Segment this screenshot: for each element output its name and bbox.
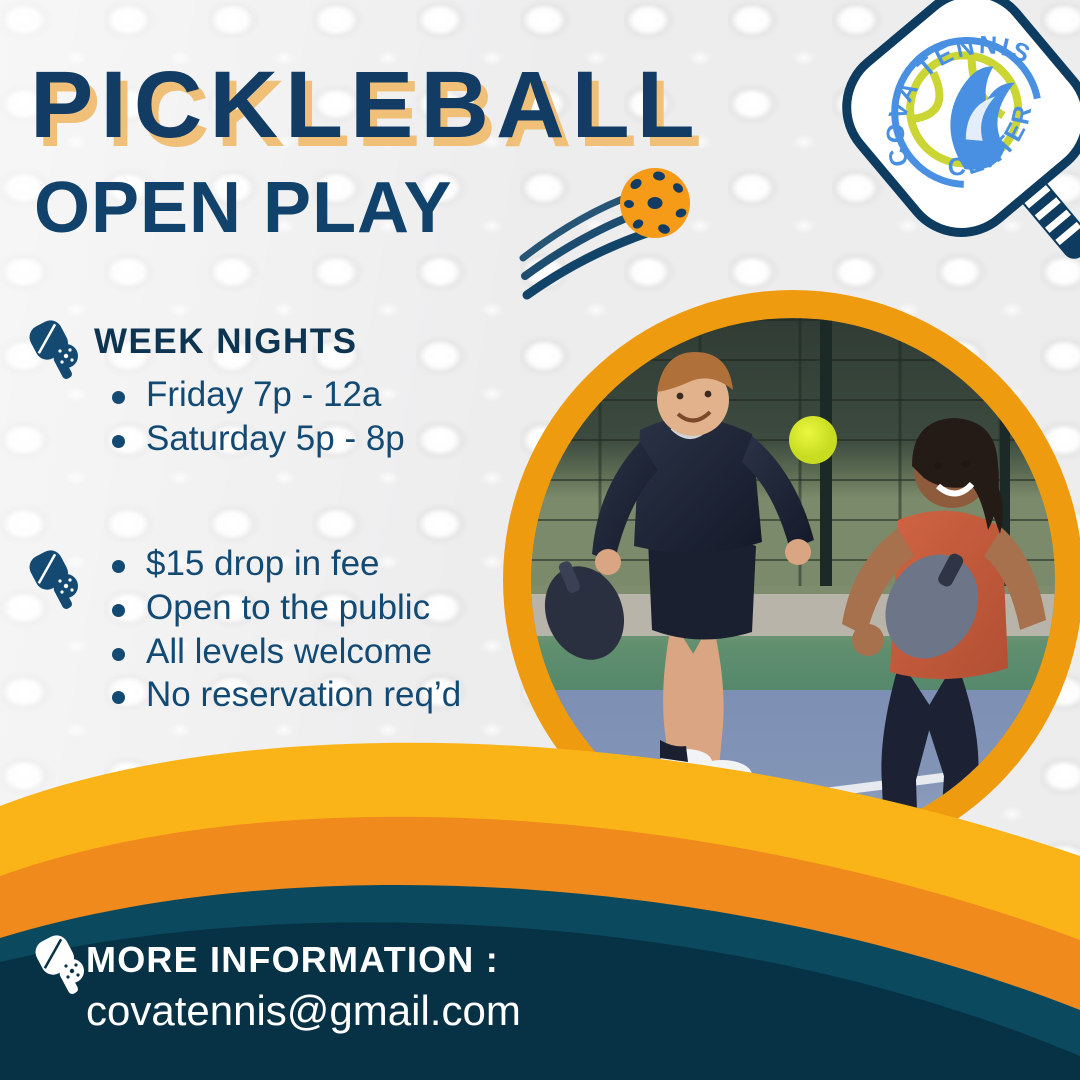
footer-heading: MORE INFORMATION : xyxy=(86,939,499,981)
list-item: Friday 7p - 12a xyxy=(112,373,405,417)
pickleball-paddle-icon xyxy=(22,548,84,618)
list-item: All levels welcome xyxy=(112,630,461,674)
headline-block: PICKLEBALL xyxy=(30,58,702,153)
schedule-title: WEEK NIGHTS xyxy=(94,312,405,359)
list-item: Saturday 5p - 8p xyxy=(112,417,405,461)
poster-canvas: COVA TENNIS CENTER PICKLEBALL OPEN PLAY xyxy=(0,0,1080,1080)
schedule-block: WEEK NIGHTS Friday 7p - 12a Saturday 5p … xyxy=(22,312,405,461)
tennis-ball-in-photo xyxy=(789,416,837,464)
list-item: $15 drop in fee xyxy=(112,542,461,586)
schedule-list: Friday 7p - 12a Saturday 5p - 8p xyxy=(112,373,405,461)
page-title: PICKLEBALL xyxy=(30,58,702,153)
page-subtitle: OPEN PLAY xyxy=(34,172,452,244)
cova-tennis-center-logo: COVA TENNIS CENTER xyxy=(823,0,1080,319)
footer-bar: MORE INFORMATION : covatennis@gmail.com xyxy=(0,925,1080,1080)
list-item: Open to the public xyxy=(112,586,461,630)
pickleball-ball-icon xyxy=(620,168,690,238)
pickleball-paddle-icon xyxy=(22,318,84,388)
details-list: $15 drop in fee Open to the public All l… xyxy=(112,542,461,717)
list-item: No reservation req’d xyxy=(112,673,461,717)
contact-email[interactable]: covatennis@gmail.com xyxy=(86,987,521,1035)
pickleball-paddle-icon xyxy=(28,933,90,1003)
details-block: $15 drop in fee Open to the public All l… xyxy=(22,540,461,717)
